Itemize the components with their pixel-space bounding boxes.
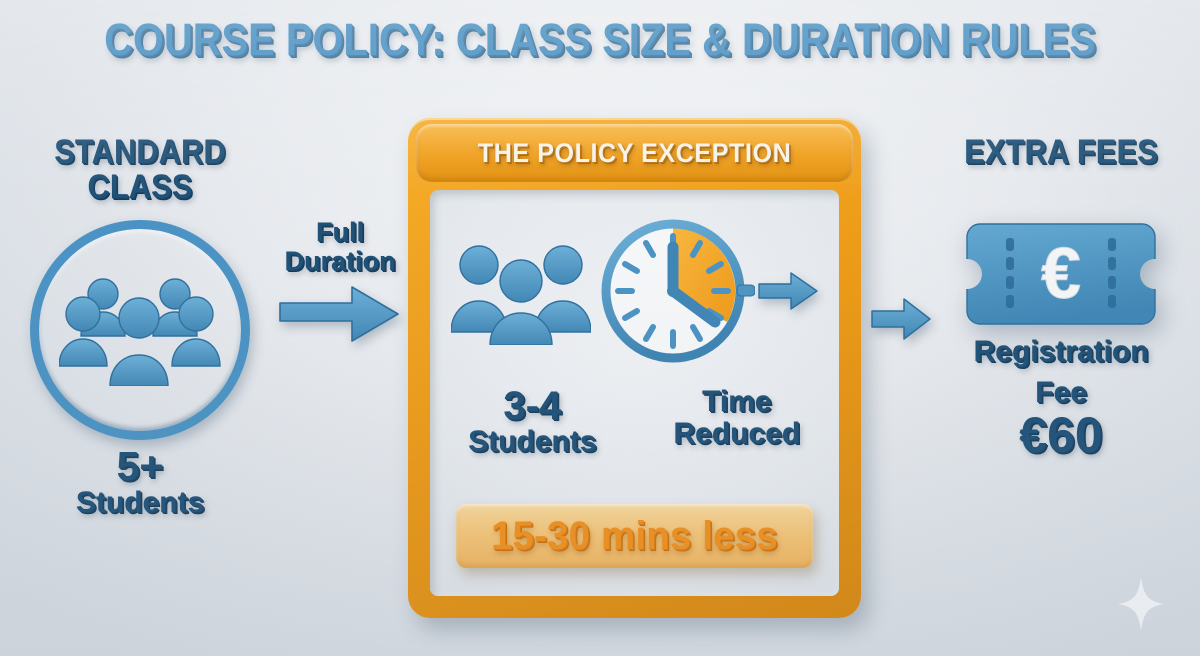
policy-exception-header-label: THE POLICY EXCEPTION xyxy=(478,138,791,169)
policy-exception-icon-row xyxy=(430,212,839,370)
infographic-canvas: COURSE POLICY: CLASS SIZE & DURATION RUL… xyxy=(0,0,1200,656)
panel-item-students-value: 3-4 xyxy=(430,386,635,426)
standard-class-count-label: Students xyxy=(10,487,270,519)
svg-text:€: € xyxy=(1041,234,1081,314)
group-of-people-icon xyxy=(59,274,221,386)
registration-fee-amount: €60 xyxy=(930,409,1192,462)
standard-class-heading-line1: STANDARD xyxy=(23,135,257,170)
page-title: COURSE POLICY: CLASS SIZE & DURATION RUL… xyxy=(72,14,1128,66)
duration-reduction-badge-label: 15-30 mins less xyxy=(491,514,778,559)
three-people-icon xyxy=(451,237,591,345)
standard-class-count: 5+ xyxy=(10,446,270,487)
policy-exception-body: 3-4 Students Time Reduced 15-30 mins les… xyxy=(430,190,839,596)
euro-ticket-wrapper: € xyxy=(930,222,1192,326)
euro-ticket-icon: € xyxy=(965,222,1157,326)
policy-exception-captions: 3-4 Students Time Reduced xyxy=(430,386,839,458)
panel-item-students-label: Students xyxy=(430,426,635,458)
arrow-right-icon xyxy=(757,270,819,312)
registration-fee-caption-line2: Fee xyxy=(930,377,1192,409)
arrow-right-icon xyxy=(870,296,932,342)
full-duration-label-line2: Duration xyxy=(276,247,404,276)
standard-class-heading-line2: CLASS xyxy=(23,170,257,205)
panel-item-students: 3-4 Students xyxy=(430,386,635,458)
panel-item-time: Time Reduced xyxy=(635,386,840,458)
extra-fees-heading: EXTRA FEES xyxy=(943,135,1179,170)
registration-fee-caption-line1: Registration xyxy=(930,336,1192,368)
standard-class-icon-circle xyxy=(30,220,250,440)
duration-reduction-badge: 15-30 mins less xyxy=(456,504,813,568)
standard-class-heading: STANDARD CLASS xyxy=(23,135,257,204)
policy-exception-header-bar: THE POLICY EXCEPTION xyxy=(416,124,853,182)
arrow-right-icon xyxy=(278,283,402,345)
panel-item-time-label: Reduced xyxy=(635,418,840,450)
policy-exception-panel: THE POLICY EXCEPTION xyxy=(408,118,861,618)
sparkle-icon xyxy=(1118,578,1164,630)
standard-class-section: STANDARD CLASS xyxy=(10,135,270,519)
full-duration-label-line1: Full xyxy=(276,218,404,247)
panel-item-time-value: Time xyxy=(635,386,840,418)
full-duration-connector: Full Duration xyxy=(276,218,404,350)
extra-fees-section: EXTRA FEES xyxy=(930,135,1192,462)
clock-icon xyxy=(597,212,755,370)
